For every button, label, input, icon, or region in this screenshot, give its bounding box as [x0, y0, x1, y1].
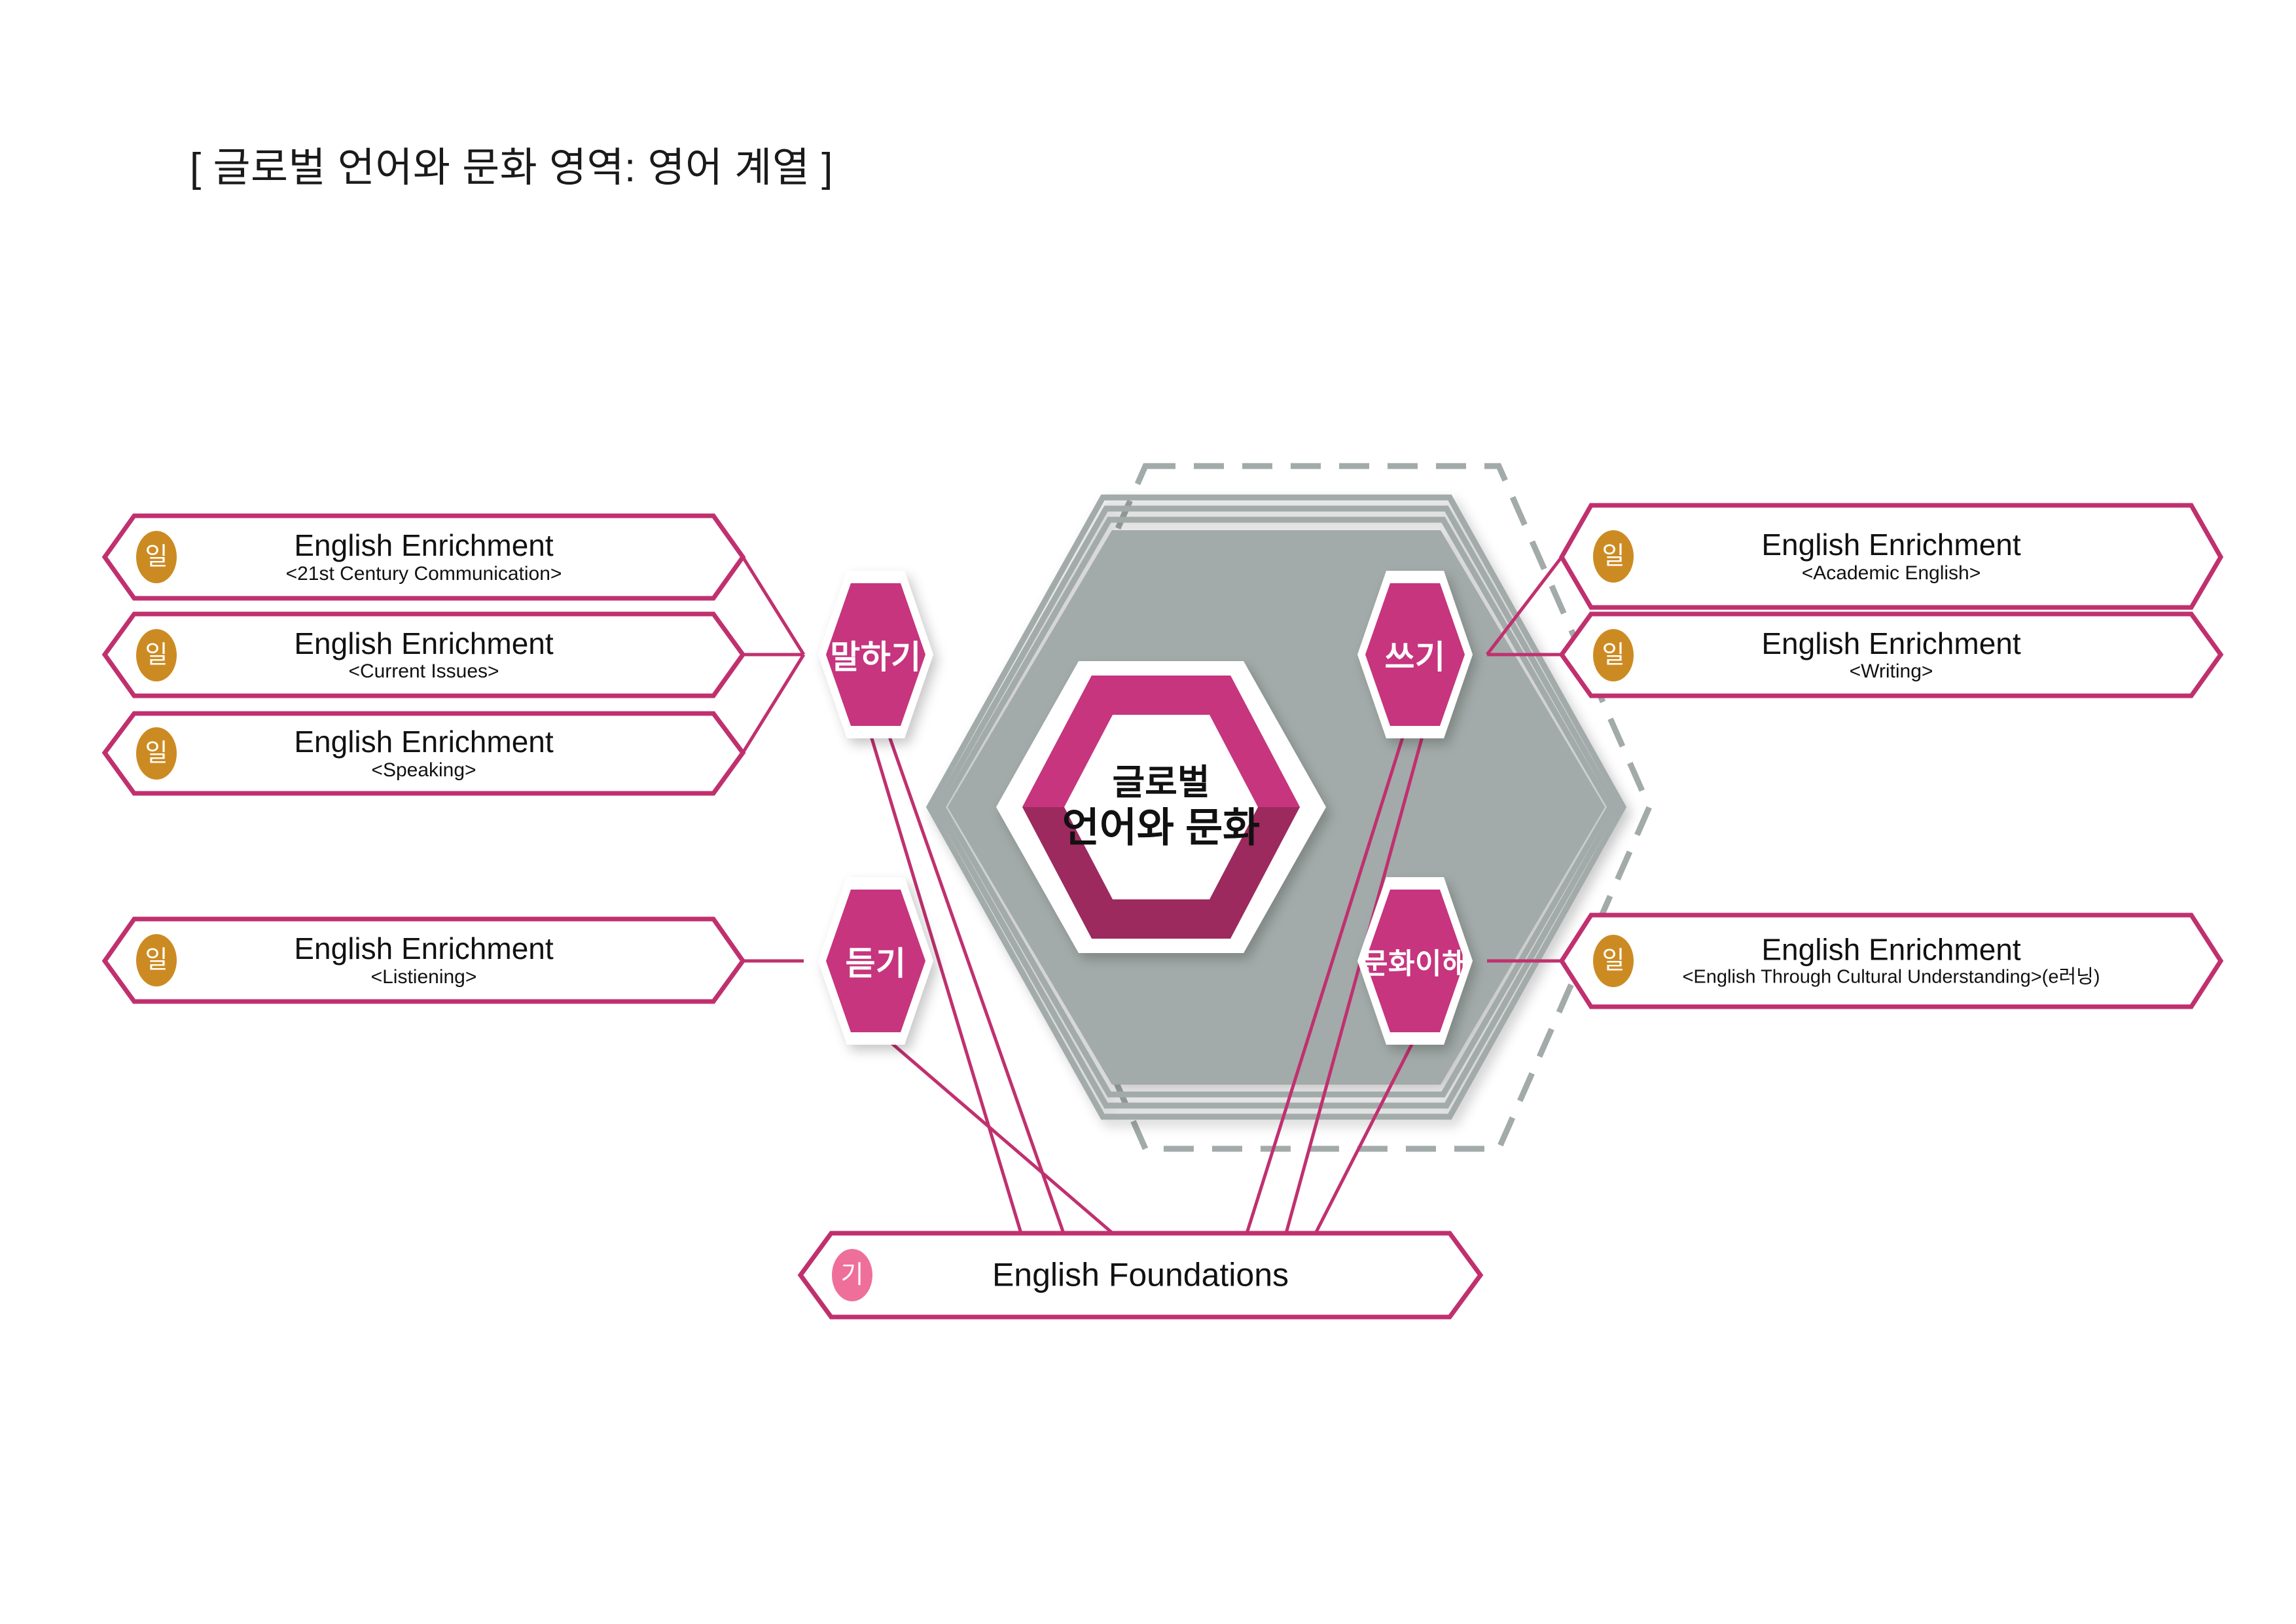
node-speaking[interactable] — [818, 571, 933, 738]
left-chip-3[interactable]: 일 English Enrichment <Speaking> — [105, 713, 743, 793]
chip-subtitle: <Current Issues> — [105, 660, 743, 682]
badge-gold-circle-icon: 일 — [1593, 629, 1634, 681]
left-connectors — [743, 557, 804, 961]
right-chip-1[interactable]: 일 English Enrichment <Academic English> — [1562, 505, 2221, 607]
left-chip-1[interactable]: 일 English Enrichment <21st Century Commu… — [105, 516, 743, 598]
chip-subtitle: <Listiening> — [105, 966, 743, 988]
left-chip-4[interactable]: 일 English Enrichment <Listiening> — [105, 919, 743, 1001]
chip-title: English Enrichment — [105, 628, 743, 660]
chip-title: English Enrichment — [1562, 934, 2221, 966]
badge-gold-circle-icon: 일 — [136, 727, 177, 780]
chip-subtitle: <21st Century Communication> — [105, 563, 743, 585]
badge-gold-circle-icon: 일 — [136, 934, 177, 986]
right-chip-2[interactable]: 일 English Enrichment <Writing> — [1562, 614, 2221, 696]
chip-subtitle: <Speaking> — [105, 759, 743, 781]
chip-title: English Enrichment — [105, 530, 743, 562]
chip-subtitle: <Academic English> — [1562, 562, 2221, 584]
left-chip-2[interactable]: 일 English Enrichment <Current Issues> — [105, 614, 743, 696]
badge-gold-circle-icon: 일 — [136, 629, 177, 681]
right-chip-3[interactable]: 일 English Enrichment <English Through Cu… — [1562, 915, 2221, 1007]
node-listening[interactable] — [818, 877, 933, 1045]
bottom-chip-foundations[interactable]: 기 English Foundations — [800, 1233, 1480, 1317]
badge-gold-circle-icon: 일 — [1593, 530, 1634, 583]
diagram-canvas — [0, 0, 2296, 1624]
chip-title: English Enrichment — [1562, 529, 2221, 561]
badge-gold-circle-icon: 일 — [136, 531, 177, 583]
chip-title: English Enrichment — [105, 933, 743, 965]
chip-title: English Enrichment — [105, 726, 743, 758]
chip-title: English Enrichment — [1562, 628, 2221, 660]
chip-subtitle: <Writing> — [1562, 660, 2221, 682]
badge-gold-circle-icon: 일 — [1593, 935, 1634, 987]
chip-title: English Foundations — [800, 1258, 1480, 1293]
chip-subtitle: <English Through Cultural Understanding>… — [1562, 967, 2221, 988]
badge-pink-circle-icon: 기 — [832, 1249, 872, 1301]
